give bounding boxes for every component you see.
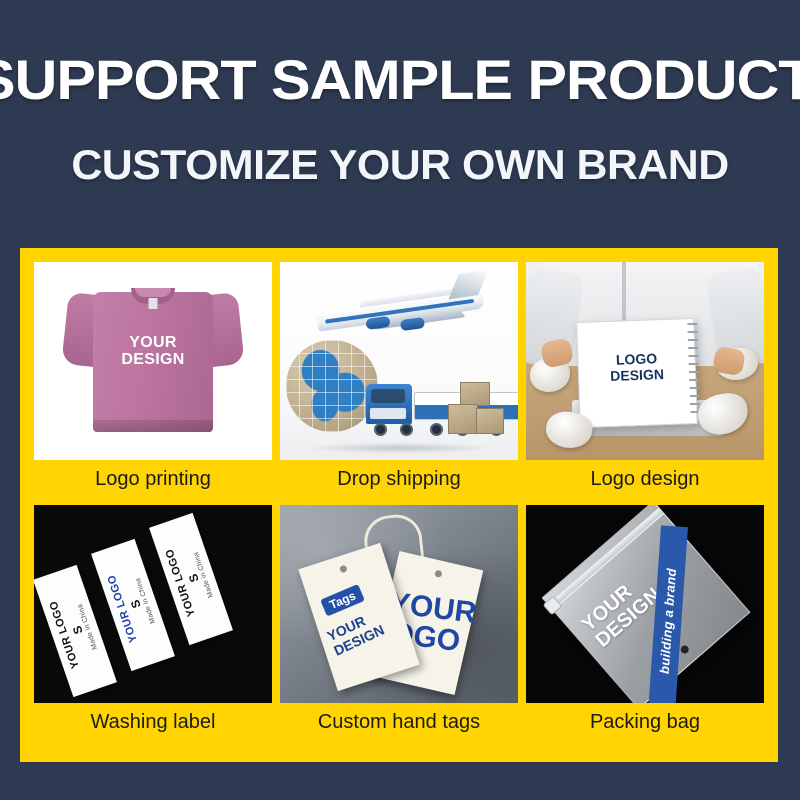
tshirt-print-text: YOUR DESIGN	[121, 334, 184, 368]
tag-hole	[339, 565, 348, 574]
notebook-line-2: DESIGN	[579, 365, 695, 385]
truck-wheel	[400, 423, 413, 436]
tag-left-text: YOUR DESIGN	[324, 607, 386, 659]
thumb-washing-label: YOUR LOGO S Made in China YOUR LOGO S Ma…	[34, 505, 272, 703]
thumb-drop-shipping	[280, 262, 518, 460]
truck-cab	[366, 384, 412, 424]
carton-boxes-icon	[446, 382, 508, 438]
tag-badge: Tags	[320, 584, 365, 617]
tshirt-print-line-1: YOUR	[121, 334, 184, 351]
tile-washing-label[interactable]: YOUR LOGO S Made in China YOUR LOGO S Ma…	[34, 505, 272, 748]
promo-banner: SUPPORT SAMPLE PRODUCTION CUSTOMIZE YOUR…	[0, 0, 800, 800]
thumb-logo-printing: YOUR DESIGN	[34, 262, 272, 460]
thumb-logo-design: LOGO DESIGN	[526, 262, 764, 460]
tile-drop-shipping[interactable]: Drop shipping	[280, 262, 518, 505]
caption-drop-shipping: Drop shipping	[280, 460, 518, 498]
truck-grill	[370, 408, 406, 419]
caption-packing-bag: Packing bag	[526, 703, 764, 741]
tshirt-hem	[93, 420, 213, 432]
notebook-text: LOGO DESIGN	[578, 349, 695, 385]
thumb-packing-bag: YOUR DESIGN building a brand	[526, 505, 764, 703]
truck-window	[371, 389, 405, 403]
tshirt-icon: YOUR DESIGN	[65, 282, 241, 432]
carton-box	[460, 382, 490, 406]
globe-icon	[286, 340, 378, 432]
bag-band-text: building a brand	[657, 568, 679, 675]
tshirt-neck-tag	[149, 298, 158, 309]
notebook-icon: LOGO DESIGN	[576, 318, 698, 428]
tile-custom-hand-tags[interactable]: YOUR OGO Tags YOUR DESIGN Custom hand ta…	[280, 505, 518, 748]
caption-logo-printing: Logo printing	[34, 460, 272, 498]
carton-box	[448, 404, 478, 434]
caption-custom-hand-tags: Custom hand tags	[280, 703, 518, 741]
tile-logo-design[interactable]: LOGO DESIGN Logo design	[526, 262, 764, 505]
truck-wheel	[430, 423, 443, 436]
tile-logo-printing[interactable]: YOUR DESIGN Logo printing	[34, 262, 272, 505]
headline-block: SUPPORT SAMPLE PRODUCTION CUSTOMIZE YOUR…	[0, 0, 800, 248]
airplane-tail	[448, 269, 488, 299]
thumb-custom-hand-tags: YOUR OGO Tags YOUR DESIGN	[280, 505, 518, 703]
carton-box	[476, 408, 504, 434]
headline-line-1: SUPPORT SAMPLE PRODUCTION	[0, 52, 800, 108]
ground-shadow	[304, 442, 494, 454]
product-grid: YOUR DESIGN Logo printing	[34, 262, 764, 748]
bag-air-hole	[679, 644, 690, 655]
tshirt-print-line-2: DESIGN	[121, 351, 184, 368]
caption-logo-design: Logo design	[526, 460, 764, 498]
caption-washing-label: Washing label	[34, 703, 272, 741]
headline-line-2: CUSTOMIZE YOUR OWN BRAND	[0, 144, 800, 186]
airplane-engine-2	[400, 317, 425, 331]
tag-hole	[434, 570, 442, 578]
product-grid-panel: YOUR DESIGN Logo printing	[20, 248, 778, 762]
truck-wheel	[374, 423, 387, 436]
tile-packing-bag[interactable]: YOUR DESIGN building a brand Packing bag	[526, 505, 764, 748]
